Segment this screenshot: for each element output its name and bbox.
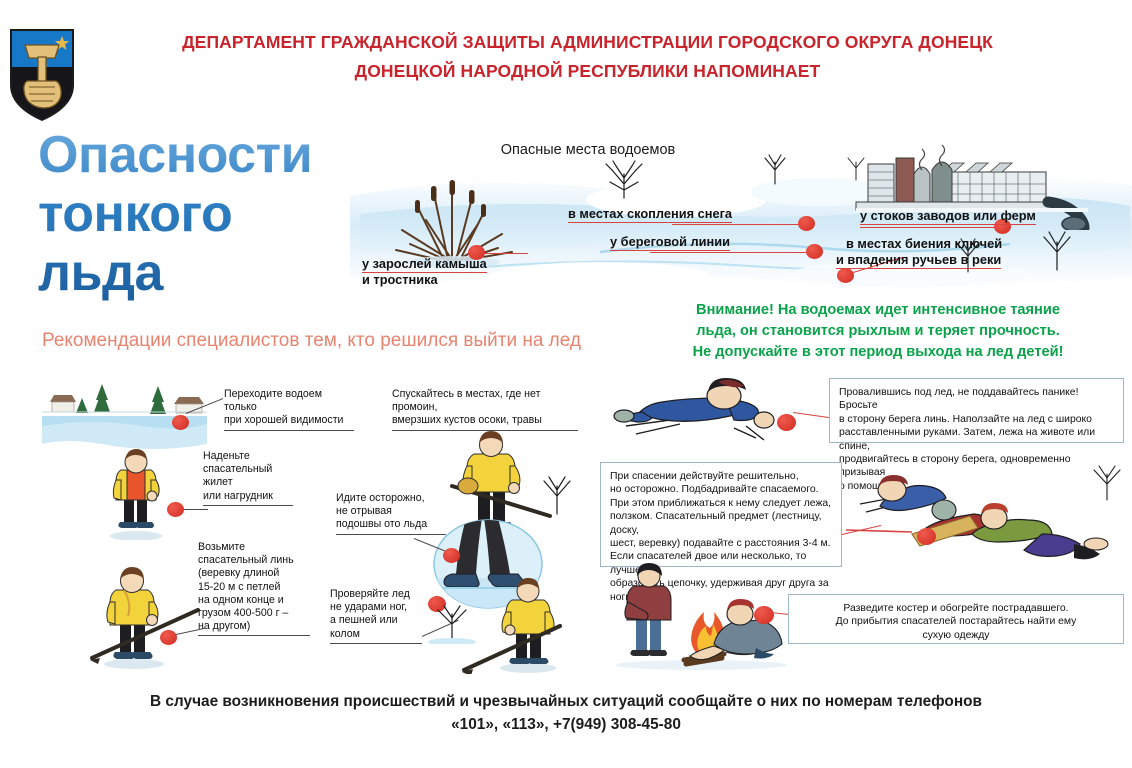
poster-root: ДЕПАРТАМЕНТ ГРАЖДАНСКОЙ ЗАЩИТЫ АДМИНИСТР… bbox=[0, 0, 1132, 768]
person-wearing-life-vest-illustration bbox=[96, 448, 174, 540]
callout-rescue-line: Возьмите спасательный линь (веревку длин… bbox=[198, 541, 310, 636]
callout-descend-clear-spots: Спускайтесь в местах, где нет промоин, в… bbox=[392, 388, 578, 431]
rescue-chain-illustration bbox=[846, 460, 1132, 578]
header-line-1: ДЕПАРТАМЕНТ ГРАЖДАНСКОЙ ЗАЩИТЫ АДМИНИСТР… bbox=[80, 28, 1095, 57]
label-springs-line2: и впадения ручьев в реки bbox=[836, 252, 1001, 269]
warning-line-2: льда, он становится рыхлым и теряет проч… bbox=[648, 321, 1108, 342]
page-title-line-1: Опасности bbox=[38, 126, 398, 185]
page-title-line-2: тонкого bbox=[38, 185, 398, 244]
label-reeds: у зарослей камыша bbox=[362, 256, 487, 273]
header-title: ДЕПАРТАМЕНТ ГРАЖДАНСКОЙ ЗАЩИТЫ АДМИНИСТР… bbox=[80, 28, 1095, 86]
page-title: Опасности тонкого льда bbox=[38, 126, 398, 303]
label-springs-line1: в местах биения ключей bbox=[846, 236, 1002, 252]
callout-marker-dot bbox=[167, 502, 184, 517]
footer-line-2: «101», «113», +7(949) 308-45-80 bbox=[40, 713, 1092, 736]
rescue-box-fell-through-ice: Провалившись под лед, не поддавайтесь па… bbox=[829, 378, 1124, 443]
leader-line bbox=[650, 252, 810, 253]
label-shoreline: у береговой линии bbox=[610, 234, 730, 251]
person-crawling-on-ice-illustration bbox=[606, 376, 820, 450]
person-with-pole-illustration bbox=[86, 566, 204, 670]
danger-marker-dot bbox=[837, 268, 854, 283]
leader-line bbox=[672, 224, 802, 225]
donetsk-coat-of-arms-icon bbox=[7, 27, 77, 123]
danger-marker-dot bbox=[798, 216, 815, 231]
leader-line bbox=[860, 227, 998, 228]
leader-line bbox=[182, 509, 208, 510]
callout-good-visibility: Переходите водоем только при хорошей вид… bbox=[224, 388, 354, 431]
dangerous-places-diagram: Опасные места водоемов у зарослей камыша… bbox=[350, 128, 1132, 303]
header-line-2: ДОНЕЦКОЙ НАРОДНОЙ РЕСПУБЛИКИ НАПОМИНАЕТ bbox=[80, 57, 1095, 86]
rescue-marker-dot bbox=[777, 414, 796, 431]
callout-marker-dot bbox=[160, 630, 177, 645]
callout-life-vest: Наденьте спасательный жилет или нагрудни… bbox=[203, 450, 293, 506]
discharge-pipe-icon bbox=[1048, 202, 1086, 230]
rescue-box-technique: При спасении действуйте решительно, но о… bbox=[600, 462, 842, 567]
bare-bush-icon bbox=[530, 470, 584, 516]
label-snow-accumulation: в местах скопления снега bbox=[568, 206, 732, 223]
warning-line-1: Внимание! На водоемах идет интенсивное т… bbox=[648, 300, 1108, 321]
rescue-marker-dot bbox=[917, 528, 936, 545]
label-reeds-line2: и тростника bbox=[362, 272, 438, 288]
emergency-contact-footer: В случае возникновения происшествий и чр… bbox=[40, 690, 1092, 736]
danger-marker-dot bbox=[806, 244, 823, 259]
footer-line-1: В случае возникновения происшествий и чр… bbox=[40, 690, 1092, 713]
page-title-line-3: льда bbox=[38, 244, 398, 303]
bare-bush-icon bbox=[1030, 224, 1084, 272]
callout-marker-dot bbox=[172, 415, 189, 430]
leader-line bbox=[482, 253, 528, 254]
label-factory-outflow: у стоков заводов или ферм bbox=[860, 208, 1036, 225]
bare-bush-icon bbox=[754, 150, 796, 186]
recommendations-heading: Рекомендации специалистов тем, кто решил… bbox=[42, 329, 581, 353]
melting-ice-warning: Внимание! На водоемах идет интенсивное т… bbox=[648, 300, 1108, 363]
callout-test-ice: Проверяйте лед не ударами ног, а пешней … bbox=[330, 588, 422, 644]
callout-walk-carefully: Идите осторожно, не отрывая подошвы ото … bbox=[336, 492, 446, 535]
rescue-marker-dot bbox=[754, 606, 774, 624]
scene-caption: Опасные места водоемов bbox=[458, 142, 718, 158]
bare-bush-icon bbox=[598, 158, 650, 200]
rescue-box-warm-victim: Разведите костер и обогрейте пострадавше… bbox=[788, 594, 1124, 644]
warning-line-3: Не допускайте в этот период выхода на ле… bbox=[648, 342, 1108, 363]
callout-marker-dot bbox=[443, 548, 460, 563]
person-testing-ice-with-pole-illustration bbox=[460, 578, 588, 674]
